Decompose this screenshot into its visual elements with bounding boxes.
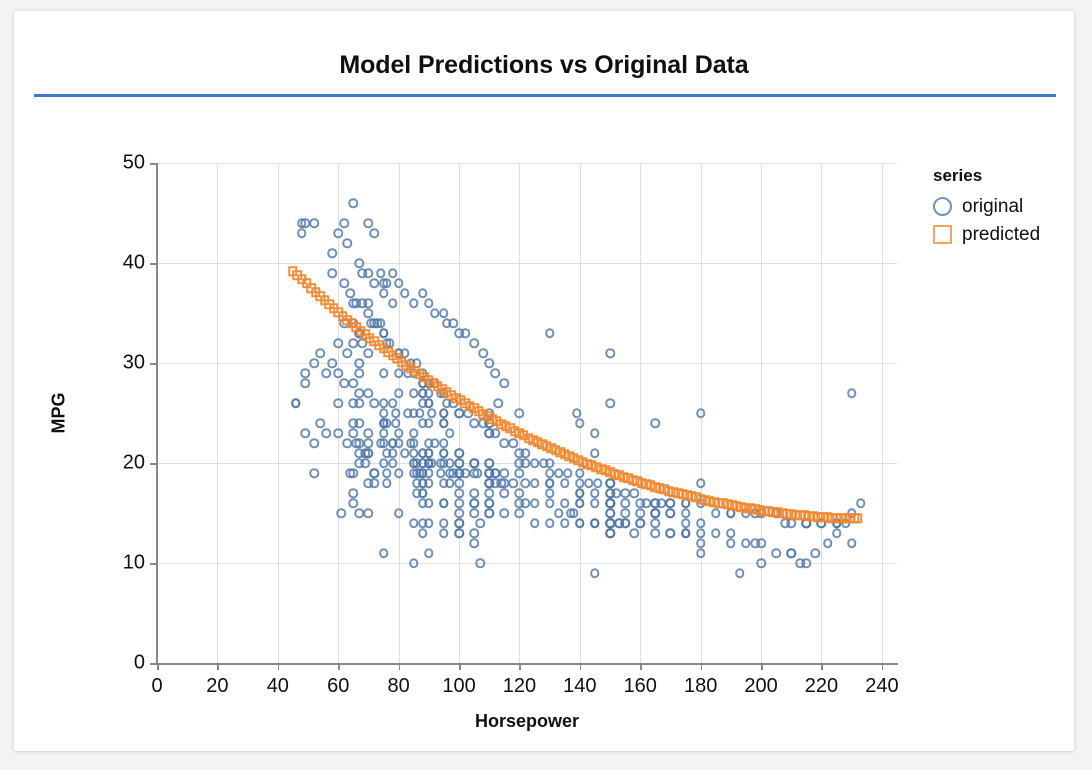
data-point-original [651,418,661,428]
x-tick [459,663,461,670]
data-point-original [515,408,525,418]
x-tick-label: 80 [388,675,410,698]
data-point-original [409,298,419,308]
data-point-original [711,528,721,538]
data-point-original [545,458,555,468]
data-point-original [355,368,365,378]
data-point-original [370,398,380,408]
data-point-original [364,308,374,318]
data-point-original [445,428,455,438]
data-point-original [636,498,646,508]
x-tick-label: 140 [563,675,596,698]
y-tick-label: 30 [123,352,145,375]
data-point-original [300,368,310,378]
data-point-original [418,398,428,408]
data-point-original [424,298,434,308]
data-point-original [412,458,422,468]
data-point-original [569,508,579,518]
data-point-original [300,428,310,438]
x-tick-label: 160 [624,675,657,698]
data-point-original [439,478,449,488]
data-point-original [572,408,582,418]
data-point-original [340,278,350,288]
x-tick-label: 200 [744,675,777,698]
data-point-original [847,538,857,548]
data-point-original [340,378,350,388]
data-point-original [355,398,365,408]
data-point-original [418,418,428,428]
plot-area: 0102030405002040608010012014016018020022… [157,163,897,663]
data-point-original [620,488,630,498]
data-point-original [439,528,449,538]
data-point-original [545,498,555,508]
data-point-original [300,218,310,228]
data-point-original [521,448,531,458]
data-point-original [418,448,428,458]
data-point-original [343,348,353,358]
data-point-original [333,338,343,348]
data-point-original [636,518,646,528]
data-point-original [509,478,519,488]
data-point-original [469,488,479,498]
data-point-original [340,218,350,228]
data-point-original [394,508,404,518]
data-point-original [605,508,615,518]
data-point-original [370,478,380,488]
legend: series original predicted [933,166,1073,249]
chart-title: Model Predictions vs Original Data [14,51,1074,80]
data-point-original [756,538,766,548]
data-point-original [370,468,380,478]
data-point-original [355,258,365,268]
y-tick [150,663,157,665]
data-point-original [575,498,585,508]
data-point-original [409,388,419,398]
data-point-original [376,438,386,448]
data-point-original [590,488,600,498]
data-point-original [554,508,564,518]
data-point-original [394,438,404,448]
data-point-original [711,508,721,518]
data-point-original [327,268,337,278]
data-point-original [309,468,319,478]
y-tick [150,263,157,265]
data-point-original [469,418,479,428]
data-point-original [333,368,343,378]
data-point-original [355,448,365,458]
x-tick [157,663,159,670]
data-point-original [560,518,570,528]
data-point-original [355,508,365,518]
x-tick-label: 20 [206,675,228,698]
data-point-original [696,408,706,418]
data-point-original [454,498,464,508]
x-tick [761,663,763,670]
data-point-original [651,498,661,508]
data-point-original [379,408,389,418]
legend-label-original: original [962,197,1023,216]
data-point-original [418,488,428,498]
data-point-original [696,538,706,548]
data-point-original [436,468,446,478]
data-point-original [530,458,540,468]
data-point-original [605,478,615,488]
data-points-layer [157,163,897,663]
data-point-original [491,368,501,378]
data-point-original [666,498,676,508]
data-point-original [439,448,449,458]
data-point-original [454,448,464,458]
data-point-original [388,298,398,308]
data-point-original [560,478,570,488]
data-point-original [391,418,401,428]
data-point-original [382,278,392,288]
data-point-original [321,368,331,378]
data-point-original [430,308,440,318]
x-tick-label: 240 [865,675,898,698]
data-point-original [472,468,482,478]
data-point-original [355,388,365,398]
data-point-original [575,478,585,488]
data-point-original [651,528,661,538]
data-point-original [575,518,585,528]
data-point-original [388,448,398,458]
x-axis-title: Horsepower [157,711,897,732]
data-point-original [494,398,504,408]
data-point-original [409,428,419,438]
data-point-original [847,388,857,398]
data-point-original [349,198,359,208]
data-point-original [545,468,555,478]
data-point-original [593,478,603,488]
y-tick-label: 0 [134,652,145,675]
data-point-original [469,538,479,548]
data-point-original [370,228,380,238]
data-point-original [364,508,374,518]
data-point-original [379,328,389,338]
x-tick-label: 60 [327,675,349,698]
x-tick-label: 220 [805,675,838,698]
data-point-original [346,288,356,298]
data-point-original [418,478,428,488]
data-point-original [388,458,398,468]
y-tick-label: 40 [123,252,145,275]
x-tick [701,663,703,670]
data-point-original [605,528,615,538]
data-point-original [309,358,319,368]
legend-item-original[interactable]: original [933,193,1073,219]
data-point-original [454,458,464,468]
y-tick [150,163,157,165]
data-point-original [469,508,479,518]
data-point-original [333,228,343,238]
data-point-original [355,458,365,468]
data-point-original [379,288,389,298]
y-axis-title: MPG [49,392,70,433]
data-point-original [500,378,510,388]
data-point-original [343,238,353,248]
data-point-original [349,428,359,438]
data-point-original [590,518,600,528]
data-point-original [364,428,374,438]
data-point-original [696,518,706,528]
data-point-original [376,268,386,278]
data-point-original [756,558,766,568]
data-point-original [436,458,446,468]
data-point-original [696,528,706,538]
data-point-original [515,508,525,518]
data-point-original [584,478,594,488]
data-point-original [787,548,797,558]
data-point-original [469,458,479,468]
data-point-original [605,498,615,508]
data-point-original [418,528,428,538]
data-point-original [364,438,374,448]
data-point-original [681,508,691,518]
x-tick-label: 180 [684,675,717,698]
data-point-original [491,428,501,438]
data-point-original [454,508,464,518]
data-point-original [327,248,337,258]
data-point-original [379,418,389,428]
data-point-original [409,558,419,568]
data-point-original [403,408,413,418]
data-point-original [424,458,434,468]
data-point-original [478,348,488,358]
x-tick [338,663,340,670]
data-point-original [379,428,389,438]
data-point-original [439,498,449,508]
data-point-original [454,518,464,528]
data-point-original [475,518,485,528]
data-point-original [394,428,404,438]
data-point-original [379,398,389,408]
data-point-original [515,498,525,508]
data-point-original [530,498,540,508]
data-point-original [811,548,821,558]
data-point-original [364,348,374,358]
data-point-original [554,468,564,478]
data-point-original [439,438,449,448]
data-point-original [382,468,392,478]
data-point-original [666,508,676,518]
data-point-original [484,358,494,368]
data-point-original [291,398,301,408]
data-point-original [469,338,479,348]
legend-item-predicted[interactable]: predicted [933,221,1073,247]
data-point-original [388,398,398,408]
data-point-original [484,488,494,498]
data-point-original [832,528,842,538]
y-tick-label: 10 [123,552,145,575]
data-point-original [651,518,661,528]
data-point-original [333,428,343,438]
data-point-original [545,328,555,338]
data-point-original [379,368,389,378]
data-point-original [439,418,449,428]
data-point-original [379,548,389,558]
data-point-original [321,428,331,438]
data-point-original [500,468,510,478]
title-divider [34,94,1056,97]
y-tick [150,363,157,365]
x-tick [580,663,582,670]
data-point-original [364,448,374,458]
data-point-original [726,538,736,548]
data-point-original [484,508,494,518]
data-point-original [309,218,319,228]
data-point-original [315,348,325,358]
data-point-original [400,448,410,458]
data-point-original [336,508,346,518]
data-point-original [515,458,525,468]
data-point-original [364,268,374,278]
data-point-original [681,528,691,538]
data-point-original [439,308,449,318]
legend-title: series [933,166,1073,186]
data-point-original [590,568,600,578]
x-tick-label: 40 [267,675,289,698]
data-point-original [454,478,464,488]
data-point-original [856,498,866,508]
data-point-original [349,378,359,388]
data-point-original [515,488,525,498]
data-point-original [394,388,404,398]
data-point-original [590,498,600,508]
data-point-original [726,528,736,538]
data-point-original [370,278,380,288]
data-point-original [454,488,464,498]
x-tick [217,663,219,670]
data-point-original [636,508,646,518]
data-point-original [315,418,325,428]
data-point-original [620,518,630,528]
y-tick [150,563,157,565]
data-point-original [796,558,806,568]
data-point-original [439,408,449,418]
data-point-original [373,318,383,328]
y-tick-label: 20 [123,452,145,475]
data-point-original [409,438,419,448]
data-point-original [297,228,307,238]
data-point-original [424,518,434,528]
x-tick-label: 120 [503,675,536,698]
square-marker-icon [933,225,952,244]
chart-card: Model Predictions vs Original Data 01020… [14,11,1074,751]
data-point-original [484,458,494,468]
data-point-original [681,518,691,528]
data-point-original [460,328,470,338]
data-point-original [545,478,555,488]
y-tick-label: 50 [123,152,145,175]
x-tick-label: 0 [151,675,162,698]
x-tick [882,663,884,670]
data-point-original [500,438,510,448]
data-point-original [424,388,434,398]
data-point-original [620,498,630,508]
data-point-original [364,388,374,398]
data-point-original [364,218,374,228]
data-point-original [424,498,434,508]
data-point-original [696,548,706,558]
x-tick [821,663,823,670]
data-point-original [575,488,585,498]
data-point-original [475,558,485,568]
data-point-original [509,438,519,448]
data-point-original [352,438,362,448]
data-point-original [530,518,540,528]
data-point-original [741,538,751,548]
data-point-original [575,468,585,478]
data-point-predicted [853,513,863,523]
x-tick [399,663,401,670]
data-point-original [300,378,310,388]
page-root: Model Predictions vs Original Data 01020… [0,0,1092,770]
data-point-original [394,468,404,478]
x-axis-line [156,663,898,665]
data-point-original [394,278,404,288]
data-point-original [620,508,630,518]
data-point-original [605,518,615,528]
data-point-original [418,288,428,298]
data-point-original [427,408,437,418]
data-point-original [349,418,359,428]
x-tick-label: 100 [442,675,475,698]
data-point-original [379,458,389,468]
data-point-original [309,438,319,448]
data-point-original [666,528,676,538]
x-tick [640,663,642,670]
data-point-original [454,408,464,418]
data-point-original [771,548,781,558]
data-point-original [651,508,661,518]
data-point-original [349,498,359,508]
data-point-original [424,438,434,448]
data-point-original [460,468,470,478]
data-point-original [545,518,555,528]
data-point-original [448,468,458,478]
y-tick [150,463,157,465]
data-point-original [575,418,585,428]
data-point-original [629,528,639,538]
data-point-original [448,318,458,328]
data-point-original [500,508,510,518]
data-point-original [484,498,494,508]
data-point-original [521,478,531,488]
data-point-original [484,468,494,478]
legend-label-predicted: predicted [962,225,1040,244]
data-point-original [424,548,434,558]
data-point-original [530,478,540,488]
data-point-original [454,528,464,538]
data-point-original [469,528,479,538]
data-point-original [696,478,706,488]
data-point-original [605,348,615,358]
x-tick [278,663,280,670]
data-point-original [388,268,398,278]
data-point-original [560,498,570,508]
data-point-original [545,488,555,498]
data-point-original [418,468,428,478]
data-point-original [735,568,745,578]
data-point-original [343,438,353,448]
data-point-original [409,518,419,528]
data-point-original [590,448,600,458]
data-point-original [391,408,401,418]
data-point-original [333,398,343,408]
data-point-original [355,358,365,368]
data-point-original [484,478,494,488]
